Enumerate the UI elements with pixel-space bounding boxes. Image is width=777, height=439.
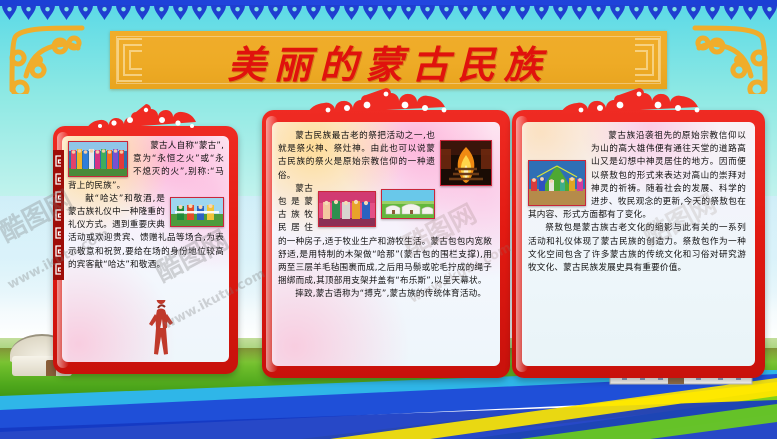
page-title: 美丽的蒙古民族 — [110, 33, 667, 89]
ovoo-worship-ceremony-photo — [528, 160, 586, 206]
hada-offering-photo — [170, 197, 224, 227]
mongolian-costume-group-photo — [68, 141, 128, 177]
mongolian-cloud-crown-ornament-right — [554, 88, 724, 118]
text-column-left: 蒙古人自称“蒙古”,意为“永恒之火”或“永不熄灭的火”,别称:“马背上的民族”。… — [68, 140, 224, 272]
mongolian-yurt-grassland-photo — [381, 189, 435, 219]
lotus-pattern-border — [0, 5, 777, 21]
greek-key-side-band — [53, 150, 64, 280]
poster-canvas: 美丽的蒙古民族 — [0, 0, 777, 439]
gold-scroll-corner-ornament-right — [691, 24, 769, 98]
gold-scroll-corner-ornament-left — [8, 24, 86, 98]
sacred-fire-photo — [440, 140, 492, 186]
right-paragraph-2: 祭敖包是蒙古族古老文化的缩影与此有关的一系列活动和礼仪体现了蒙古民族的创造力。祭… — [528, 222, 746, 275]
text-column-middle: 蒙古民族最古老的祭把活动之一,也就是祭火神、祭灶神。由此也可以说蒙古民族的祭火是… — [278, 130, 492, 302]
mongolian-cloud-crown-ornament-middle — [301, 88, 471, 118]
text-column-right: 蒙古族沿袭祖先的原始宗教信仰以为山的高大雄伟便有通往天堂的道路高山又是幻想中神灵… — [528, 130, 746, 275]
wrestling-bokh-photo — [318, 191, 376, 227]
mid-paragraph-3: 摔跤,蒙古语称为“搏克”,蒙古族的传统体育活动。 — [278, 288, 492, 301]
mongolian-cloud-crown-ornament-left — [86, 104, 206, 134]
title-banner: 美丽的蒙古民族 — [110, 31, 667, 89]
mongolian-horse-rider-figure — [145, 300, 179, 360]
